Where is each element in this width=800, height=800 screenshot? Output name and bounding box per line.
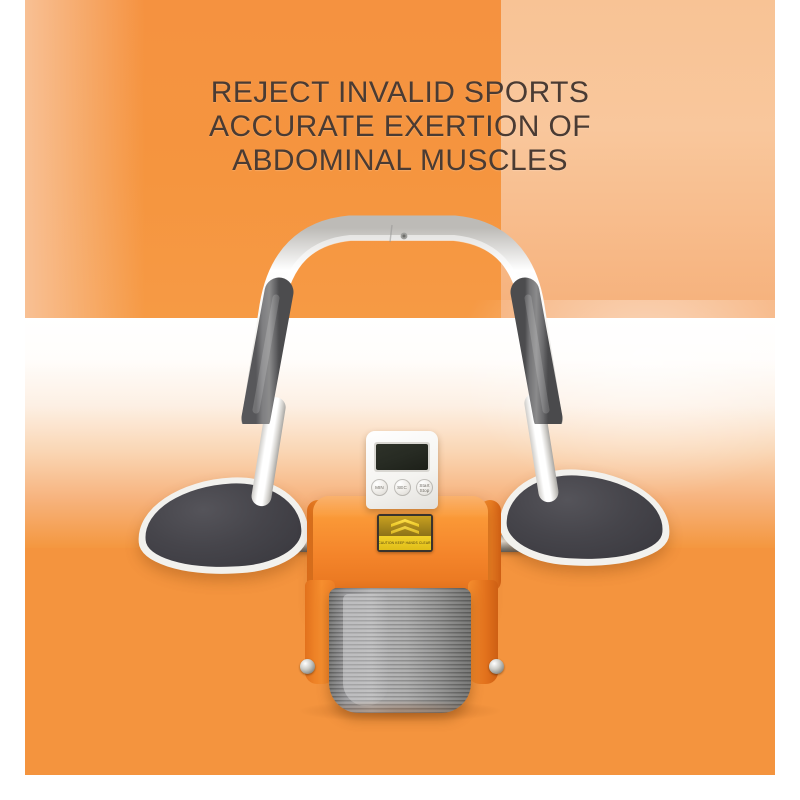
axle-bolt-left [300, 659, 315, 674]
elbow-pad-left-cushion [143, 480, 303, 571]
sec-button[interactable]: SEC [394, 479, 411, 496]
chevron-up-icon [391, 519, 419, 527]
start-stop-button[interactable]: Start Stop [416, 479, 433, 496]
headline-line-3: ABDOMINAL MUSCLES [0, 144, 800, 178]
axle-bolt-right [489, 659, 504, 674]
contact-shadow [300, 700, 500, 722]
sec-button-label: SEC [397, 485, 407, 490]
headline-line-2: ACCURATE EXERTION OF [0, 110, 800, 144]
product-poster: REJECT INVALID SPORTS ACCURATE EXERTION … [0, 0, 800, 800]
stop-button-label: Stop [420, 488, 430, 493]
elbow-pad-left [136, 474, 311, 579]
roller-wheel [329, 588, 471, 713]
caution-text-area: CAUTION KEEP HANDS CLEAR [379, 536, 431, 550]
elbow-pad-right-cushion [505, 472, 665, 563]
timer-button-row: MIN SEC Start Stop [371, 479, 433, 496]
roller-wheel-highlight [343, 594, 389, 706]
min-button-label: MIN [375, 485, 384, 490]
chevron-up-icon-secondary [391, 526, 419, 534]
digital-timer[interactable]: MIN SEC Start Stop [366, 431, 438, 509]
caution-sticker-text: CAUTION KEEP HANDS CLEAR [379, 541, 431, 545]
min-button[interactable]: MIN [371, 479, 388, 496]
timer-lcd-screen [376, 444, 428, 470]
timer-bezel [374, 442, 430, 472]
caution-sticker: CAUTION KEEP HANDS CLEAR [377, 514, 433, 552]
handlebar-arch [232, 214, 572, 424]
elbow-pad-right [498, 466, 673, 571]
caution-chevron-area [379, 516, 431, 536]
headline-line-1: REJECT INVALID SPORTS [0, 76, 800, 110]
